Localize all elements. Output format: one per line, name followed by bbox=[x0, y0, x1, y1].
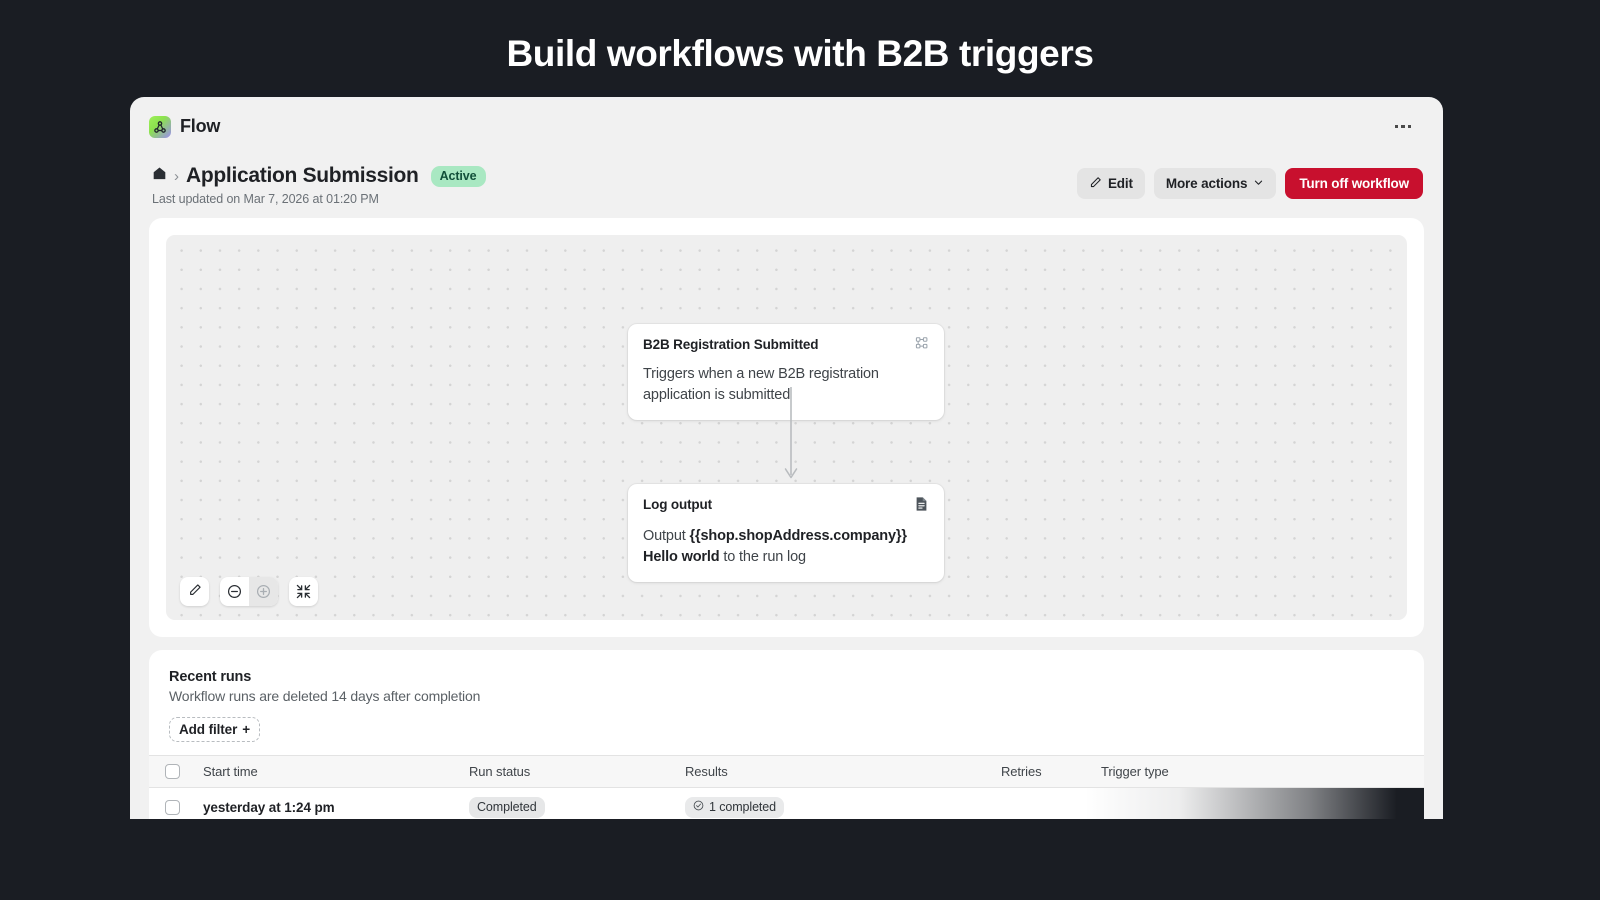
row-checkbox[interactable] bbox=[165, 800, 180, 815]
column-header-start-time: Start time bbox=[180, 764, 469, 779]
home-icon[interactable] bbox=[152, 166, 167, 186]
plus-icon: + bbox=[242, 722, 250, 737]
recent-runs-title: Recent runs bbox=[169, 669, 1404, 685]
workflow-header-left: › Application Submission Active Last upd… bbox=[150, 164, 486, 206]
fit-to-screen-icon[interactable] bbox=[289, 577, 318, 606]
column-header-run-status: Run status bbox=[469, 764, 685, 779]
flow-nodes-icon bbox=[149, 116, 171, 138]
breadcrumb: › Application Submission Active bbox=[152, 164, 486, 188]
page-title: Build workflows with B2B triggers bbox=[0, 0, 1600, 75]
workflow-header-actions: Edit More actions Turn off workflow bbox=[1077, 164, 1423, 199]
app-window: Flow › Application Submission Active Las… bbox=[130, 97, 1443, 819]
workflow-node-action[interactable]: Log output Output {{shop.shopAddress.com… bbox=[628, 484, 944, 582]
zoom-in-icon[interactable] bbox=[249, 577, 278, 606]
cell-results: 1 completed bbox=[685, 797, 1001, 818]
results-badge: 1 completed bbox=[685, 797, 784, 818]
edit-button-label: Edit bbox=[1108, 176, 1133, 191]
node-header: B2B Registration Submitted bbox=[643, 337, 929, 355]
column-header-retries: Retries bbox=[1001, 764, 1101, 779]
node-title: B2B Registration Submitted bbox=[643, 337, 818, 352]
edit-button[interactable]: Edit bbox=[1077, 168, 1145, 199]
row-fade-overlay bbox=[1084, 788, 1424, 819]
table-row[interactable]: yesterday at 1:24 pm Completed 1 complet… bbox=[149, 788, 1424, 819]
add-filter-label: Add filter bbox=[179, 722, 237, 737]
column-header-trigger-type: Trigger type bbox=[1101, 764, 1424, 779]
select-all-checkbox[interactable] bbox=[165, 764, 180, 779]
app-topbar: Flow bbox=[130, 97, 1443, 156]
last-updated-text: Last updated on Mar 7, 2026 at 01:20 PM bbox=[152, 192, 486, 206]
pencil-icon bbox=[188, 583, 202, 600]
page-title-workflow: Application Submission bbox=[186, 164, 419, 188]
ellipsis-icon[interactable] bbox=[1393, 119, 1414, 135]
results-badge-label: 1 completed bbox=[709, 800, 776, 814]
ellipsis-dot bbox=[1408, 125, 1412, 129]
arrow-down-icon bbox=[784, 387, 798, 487]
add-filter-button[interactable]: Add filter + bbox=[169, 717, 260, 742]
flow-trigger-icon bbox=[915, 336, 929, 355]
canvas-card: B2B Registration Submitted Triggers when… bbox=[149, 218, 1424, 637]
recent-runs-subtitle: Workflow runs are deleted 14 days after … bbox=[169, 688, 1404, 704]
node-title: Log output bbox=[643, 497, 712, 512]
recent-runs-card: Recent runs Workflow runs are deleted 14… bbox=[149, 650, 1424, 819]
node-header: Log output bbox=[643, 497, 929, 517]
more-actions-button[interactable]: More actions bbox=[1154, 168, 1276, 199]
workflow-header: › Application Submission Active Last upd… bbox=[130, 156, 1443, 214]
table-header-row: Start time Run status Results Retries Tr… bbox=[149, 755, 1424, 788]
canvas-edit-button[interactable] bbox=[180, 577, 209, 606]
brand-name: Flow bbox=[180, 116, 220, 137]
node-description: Output {{shop.shopAddress.company}}Hello… bbox=[643, 526, 929, 567]
check-circle-icon bbox=[693, 800, 704, 814]
chevron-down-icon bbox=[1253, 176, 1264, 191]
more-actions-label: More actions bbox=[1166, 176, 1247, 191]
status-badge: Completed bbox=[469, 797, 545, 818]
breadcrumb-separator: › bbox=[174, 169, 179, 184]
zoom-control-group bbox=[220, 577, 278, 606]
node-output-prefix: Output bbox=[643, 528, 690, 544]
zoom-out-icon[interactable] bbox=[220, 577, 249, 606]
node-output-suffix: to the run log bbox=[720, 549, 806, 565]
cell-run-status: Completed bbox=[469, 797, 685, 818]
canvas-toolbar bbox=[180, 577, 318, 606]
ellipsis-dot bbox=[1401, 125, 1405, 129]
turn-off-workflow-button[interactable]: Turn off workflow bbox=[1285, 168, 1423, 199]
recent-runs-header: Recent runs Workflow runs are deleted 14… bbox=[149, 650, 1424, 742]
pencil-icon bbox=[1089, 176, 1102, 192]
recent-runs-table: Start time Run status Results Retries Tr… bbox=[149, 755, 1424, 819]
workflow-canvas[interactable]: B2B Registration Submitted Triggers when… bbox=[166, 235, 1407, 620]
column-header-results: Results bbox=[685, 764, 1001, 779]
brand: Flow bbox=[149, 116, 220, 138]
ellipsis-dot bbox=[1395, 125, 1399, 129]
document-icon bbox=[914, 496, 929, 517]
status-badge: Active bbox=[431, 166, 486, 187]
cell-start-time: yesterday at 1:24 pm bbox=[180, 800, 469, 815]
node-output-message: Hello world bbox=[643, 549, 720, 565]
node-output-variable: {{shop.shopAddress.company}} bbox=[690, 528, 907, 544]
